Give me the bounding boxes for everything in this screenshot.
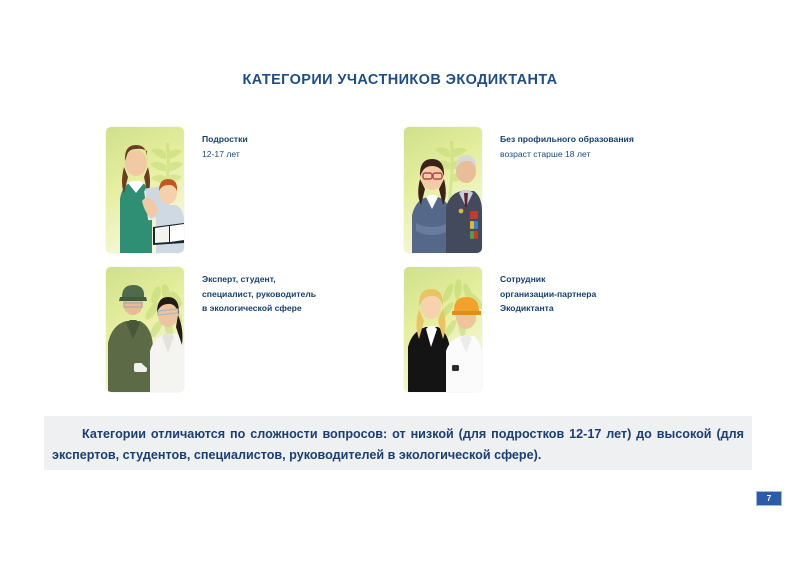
category-line: 12-17 лет [202, 147, 248, 162]
ecologist-man-and-lab-woman-photo [106, 267, 184, 392]
page-number-badge: 7 [756, 491, 782, 506]
category-line: возраст старше 18 лет [500, 147, 634, 162]
category-line: Сотрудник [500, 272, 596, 287]
photo-people-figures [404, 267, 482, 392]
category-line: Без профильного образования [500, 132, 634, 147]
presentation-slide: КАТЕГОРИИ УЧАСТНИКОВ ЭКОДИКТАНТА [0, 0, 800, 566]
category-label-partner-organization-employee: Сотрудник организации-партнера Экодиктан… [482, 267, 596, 316]
woman-and-elderly-veteran-photo [404, 127, 482, 253]
category-label-teenagers: Подростки 12-17 лет [184, 127, 248, 161]
page-title: КАТЕГОРИИ УЧАСТНИКОВ ЭКОДИКТАНТА [0, 72, 800, 88]
summary-caption: Категории отличаются по сложности вопрос… [44, 416, 752, 470]
photo-people-figures [404, 127, 482, 253]
category-label-no-profile-education: Без профильного образования возраст стар… [482, 127, 634, 161]
category-line: организации-партнера [500, 287, 596, 302]
category-line: Экодиктанта [500, 301, 596, 316]
categories-grid: Подростки 12-17 лет [106, 127, 726, 406]
category-line: в экологической сфере [202, 301, 316, 316]
photo-people-figures [106, 267, 184, 392]
categories-row-1: Подростки 12-17 лет [106, 127, 726, 253]
categories-row-2: Эксперт, студент, специалист, руководите… [106, 267, 726, 392]
category-line: Подростки [202, 132, 248, 147]
category-line: специалист, руководитель [202, 287, 316, 302]
category-line: Эксперт, студент, [202, 272, 316, 287]
category-card-partner-organization-employee[interactable]: Сотрудник организации-партнера Экодиктан… [404, 267, 700, 392]
category-card-no-profile-education[interactable]: Без профильного образования возраст стар… [404, 127, 700, 253]
category-card-expert-student-specialist[interactable]: Эксперт, студент, специалист, руководите… [106, 267, 402, 392]
teen-girl-and-boy-with-books-photo [106, 127, 184, 253]
photo-people-figures [106, 127, 184, 253]
category-label-expert-student-specialist: Эксперт, студент, специалист, руководите… [184, 267, 316, 316]
category-card-teenagers[interactable]: Подростки 12-17 лет [106, 127, 402, 253]
businesswoman-and-engineer-photo [404, 267, 482, 392]
